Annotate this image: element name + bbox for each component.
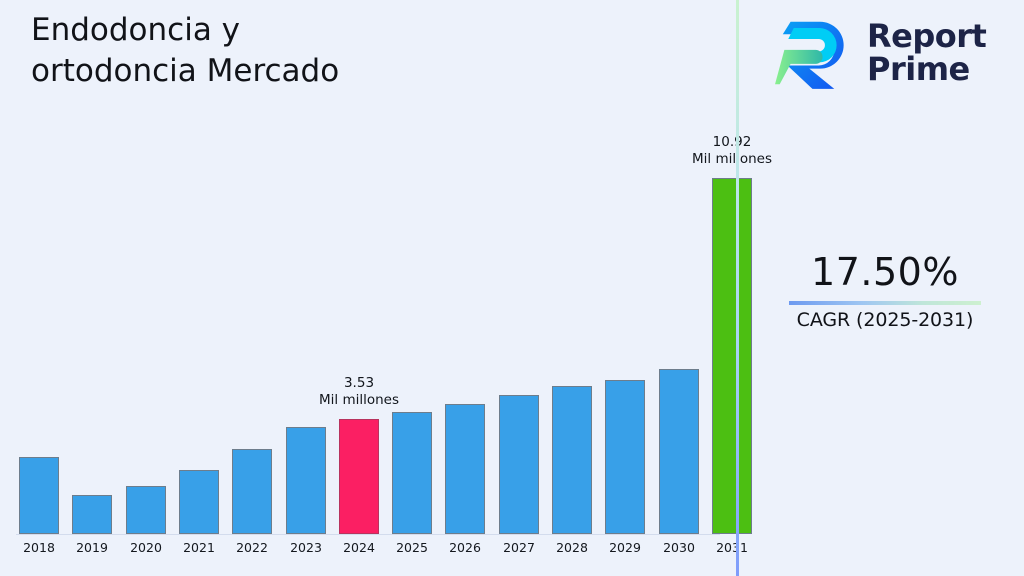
brand-logo: Report Prime bbox=[775, 12, 1005, 94]
bar-2026 bbox=[445, 404, 485, 534]
cagr-value: 17.50% bbox=[760, 252, 1010, 294]
bar-2024 bbox=[339, 419, 379, 534]
bar-2023 bbox=[286, 427, 326, 534]
bar-label-2024: 3.53 Mil millones bbox=[289, 375, 429, 410]
bar-chart: 3.53 Mil millones10.92 Mil millones 2018… bbox=[0, 0, 736, 576]
bar-2030 bbox=[659, 369, 699, 534]
bar-2021 bbox=[179, 470, 219, 534]
x-tick-2028: 2028 bbox=[545, 540, 599, 555]
x-tick-2025: 2025 bbox=[385, 540, 439, 555]
bar-2025 bbox=[392, 412, 432, 534]
x-tick-2029: 2029 bbox=[598, 540, 652, 555]
x-tick-2024: 2024 bbox=[332, 540, 386, 555]
report-prime-logo-icon bbox=[775, 17, 853, 89]
cagr-divider bbox=[789, 301, 981, 305]
x-tick-2021: 2021 bbox=[172, 540, 226, 555]
bar-2028 bbox=[552, 386, 592, 534]
x-tick-2018: 2018 bbox=[12, 540, 66, 555]
bar-2019 bbox=[72, 495, 112, 534]
x-axis-line bbox=[16, 534, 720, 535]
x-tick-2020: 2020 bbox=[119, 540, 173, 555]
slide-canvas: Endodoncia y ortodoncia Mercado 3.53 Mil… bbox=[0, 0, 1024, 576]
x-tick-2031: 2031 bbox=[705, 540, 759, 555]
bar-2022 bbox=[232, 449, 272, 534]
brand-logo-line2: Prime bbox=[867, 50, 970, 88]
bar-2018 bbox=[19, 457, 59, 534]
panel-divider bbox=[736, 0, 739, 576]
bar-2020 bbox=[126, 486, 166, 534]
x-tick-2026: 2026 bbox=[438, 540, 492, 555]
brand-logo-text: Report Prime bbox=[867, 20, 986, 85]
x-tick-2023: 2023 bbox=[279, 540, 333, 555]
cagr-label: CAGR (2025-2031) bbox=[760, 309, 1010, 331]
bar-2029 bbox=[605, 380, 645, 534]
x-tick-2030: 2030 bbox=[652, 540, 706, 555]
x-tick-2022: 2022 bbox=[225, 540, 279, 555]
bar-2027 bbox=[499, 395, 539, 534]
bar-label-2031: 10.92 Mil millones bbox=[662, 134, 802, 169]
x-tick-2019: 2019 bbox=[65, 540, 119, 555]
x-tick-2027: 2027 bbox=[492, 540, 546, 555]
cagr-block: 17.50% CAGR (2025-2031) bbox=[760, 252, 1010, 331]
bar-2031 bbox=[712, 178, 752, 534]
